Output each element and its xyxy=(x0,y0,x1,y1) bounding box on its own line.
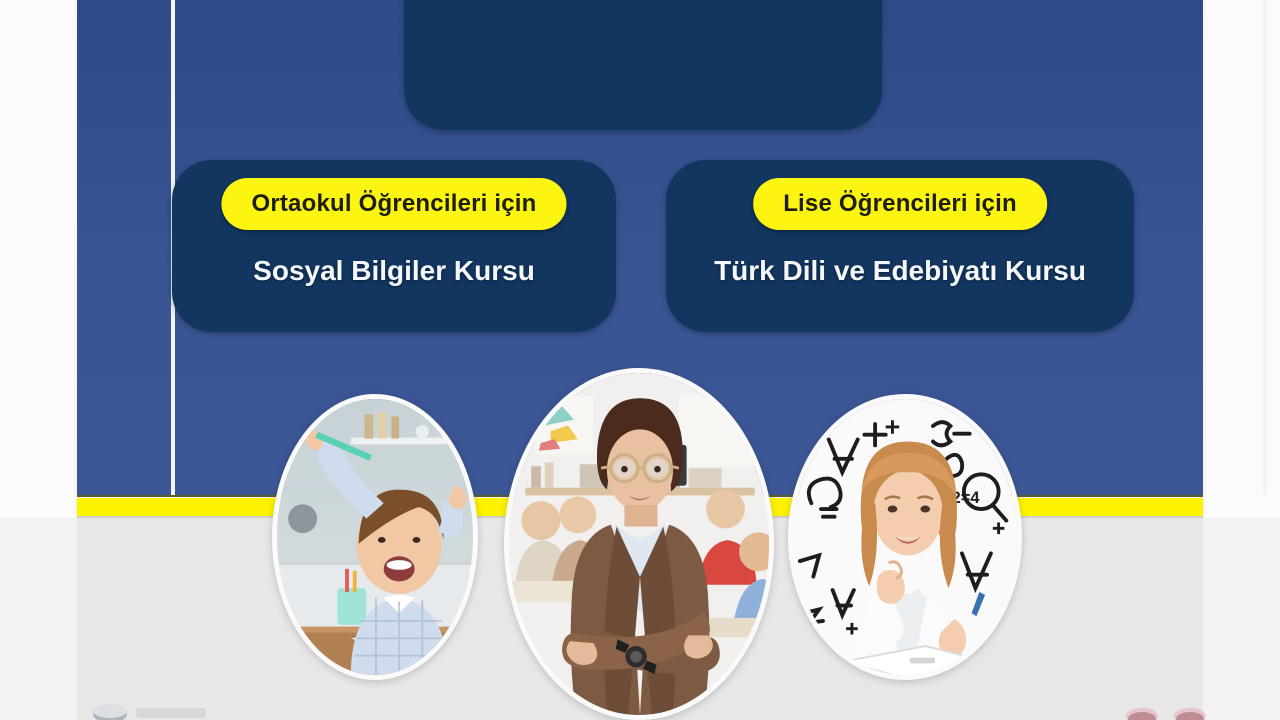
photo-girl-thinking: 2+2=4 A+ xyxy=(788,394,1022,680)
course-card-top[interactable]: Öğrencileri için Türkçe - LGS Kursları xyxy=(404,0,882,130)
photo-teacher xyxy=(504,368,774,720)
course-card-lise-pill: Lise Öğrencileri için xyxy=(753,178,1047,230)
partner-logo[interactable] xyxy=(84,698,214,720)
brand-logo-icon xyxy=(1120,700,1240,720)
photo-boy-illustration xyxy=(277,399,473,675)
photo-boy-raising-hands xyxy=(272,394,478,680)
partner-logo-icon xyxy=(84,698,214,720)
left-gutter xyxy=(0,0,77,518)
brand-logo[interactable] xyxy=(1120,700,1240,720)
vertical-guide-line-right xyxy=(1263,0,1267,495)
photo-girl-illustration: 2+2=4 A+ xyxy=(793,399,1017,675)
photo-teacher-illustration xyxy=(509,373,769,715)
right-gutter xyxy=(1203,0,1280,518)
course-card-lise-subtitle: Türk Dili ve Edebiyatı Kursu xyxy=(666,255,1134,287)
poster-canvas: Öğrencileri için Türkçe - LGS Kursları O… xyxy=(0,0,1280,720)
bottom-right-gutter xyxy=(1203,518,1280,720)
bottom-left-gutter xyxy=(0,518,77,720)
course-card-ortaokul-pill: Ortaokul Öğrencileri için xyxy=(221,178,566,230)
course-card-ortaokul-subtitle: Sosyal Bilgiler Kursu xyxy=(172,255,616,287)
course-card-ortaokul[interactable]: Ortaokul Öğrencileri için Sosyal Bilgile… xyxy=(172,160,616,332)
course-card-lise[interactable]: Lise Öğrencileri için Türk Dili ve Edebi… xyxy=(666,160,1134,332)
